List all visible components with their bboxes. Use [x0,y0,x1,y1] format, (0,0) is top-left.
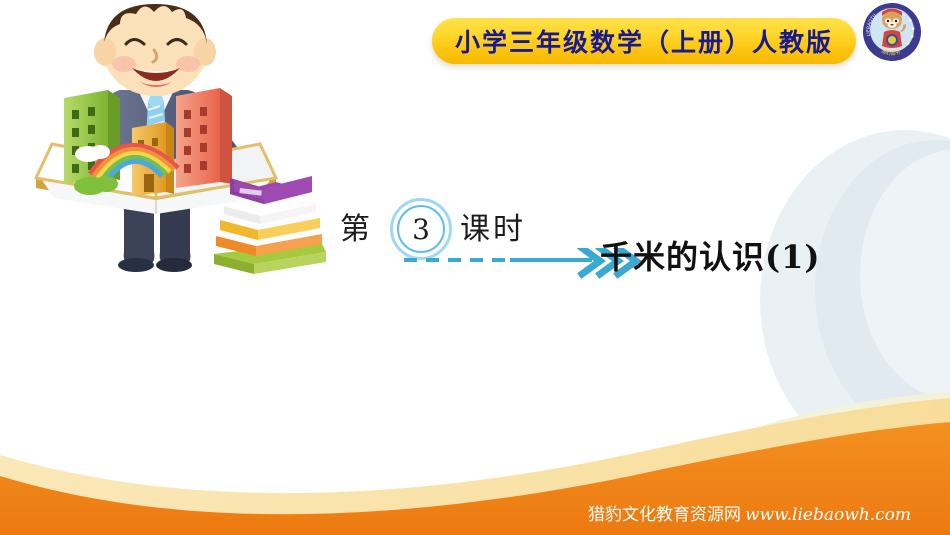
course-title-text: 小学三年级数学（上册）人教版 [455,23,833,59]
page-title: 千米的认识(1) [600,232,821,278]
illustration-boy-with-book [8,2,328,290]
slide-root: 小学三年级数学（上册）人教版 ★ ★ ★ ★ LIEBAOTUSHU [0,0,950,535]
footer-url: www.liebaowh.com [745,505,911,525]
boy-head [94,4,216,96]
svg-text:★: ★ [906,41,911,47]
liebao-mascot-logo[interactable]: ★ ★ ★ ★ LIEBAOTUSHU 猎豹图书 [862,2,922,62]
svg-text:★: ★ [911,26,916,32]
lesson-number: 3 [412,213,430,246]
book-stack [214,176,326,274]
arc-blue-decoration [760,130,950,470]
svg-text:★: ★ [908,18,913,24]
course-title-banner: 小学三年级数学（上册）人教版 [432,18,856,64]
lesson-number-circle-inner: 3 [397,205,445,253]
svg-text:★: ★ [910,34,915,40]
arc-green-decoration [808,404,950,472]
footer-site-name: 猎豹文化教育资源网 [588,505,741,525]
footer-watermark: 猎豹文化教育资源网www.liebaowh.com [588,500,911,525]
arc-yellowgreen-decoration [650,392,950,470]
lesson-suffix-label: 课时 [460,204,526,248]
lesson-prefix-label: 第 [340,204,373,248]
